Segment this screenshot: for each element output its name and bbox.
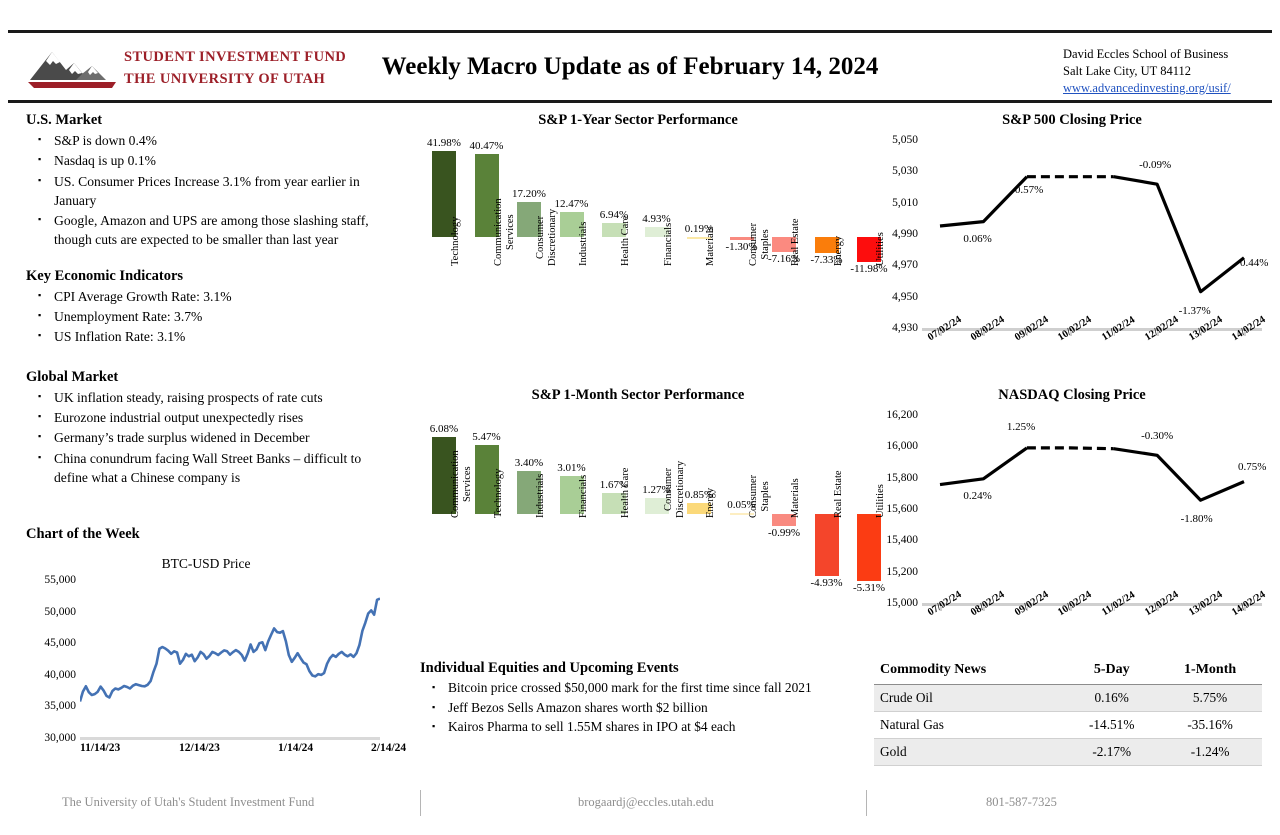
bar-category-label: Energy [705, 488, 717, 518]
equities-heading: Individual Equities and Upcoming Events [420, 660, 850, 677]
cell-1month: -35.16% [1158, 712, 1262, 739]
bar-category-label: Industrials [578, 222, 590, 266]
x-tick-mark [983, 606, 985, 611]
key-indicators-heading: Key Economic Indicators [26, 268, 396, 285]
list-item: US Inflation Rate: 3.1% [26, 327, 396, 346]
footer-right: 801-587-7325 [986, 795, 1057, 810]
table-row: Natural Gas -14.51% -35.16% [874, 712, 1262, 739]
data-point-label: 0.44% [1240, 257, 1268, 269]
x-tick-mark [1114, 606, 1116, 611]
list-item: Unemployment Rate: 3.7% [26, 307, 396, 326]
brand-line-2: THE UNIVERSITY OF UTAH [124, 68, 346, 90]
header-top-rule [8, 30, 1272, 33]
x-tick-mark [940, 331, 942, 336]
list-item: Eurozone industrial output unexpectedly … [26, 408, 396, 427]
data-point-label: 0.57% [1015, 184, 1043, 196]
list-item: China conundrum facing Wall Street Banks… [26, 449, 396, 488]
nasdaq-plot [922, 415, 1262, 603]
nasdaq-y-axis: 15,00015,20015,40015,60015,80016,00016,2… [872, 387, 918, 647]
cell-name: Crude Oil [874, 685, 1065, 712]
sp500-chart: S&P 500 Closing Price 4,9304,9504,9704,9… [872, 112, 1272, 372]
brand-logo-text: STUDENT INVESTMENT FUND THE UNIVERSITY O… [124, 46, 346, 90]
data-point-label: 0.06% [963, 233, 991, 245]
x-tick-mark [1244, 606, 1246, 611]
sector-1y-plot: 41.98%Technology40.47%CommunicationServi… [418, 136, 858, 364]
y-tick-label: 35,000 [44, 700, 76, 712]
x-tick-mark [1027, 331, 1029, 336]
bar-category-label: Industrials [535, 474, 547, 518]
x-tick-mark [1070, 331, 1072, 336]
bar-category-label: ConsumerDiscretionary [535, 209, 558, 266]
commodity-table: Commodity News 5-Day 1-Month Crude Oil 0… [874, 658, 1262, 766]
table-header-row: Commodity News 5-Day 1-Month [874, 658, 1262, 685]
y-tick-label: 55,000 [44, 574, 76, 586]
nasdaq-title: NASDAQ Closing Price [872, 387, 1272, 404]
sector-1y-title: S&P 1-Year Sector Performance [418, 112, 858, 129]
btc-x-axis: 11/14/2312/14/231/14/242/14/24 [66, 742, 396, 758]
data-point-label: -0.09% [1139, 159, 1171, 171]
footer-center: brogaardj@eccles.utah.edu [578, 795, 714, 810]
x-tick-mark [1157, 606, 1159, 611]
bar [815, 514, 839, 576]
bar-value-label: -4.93% [805, 577, 849, 589]
sector-1m-chart: S&P 1-Month Sector Performance 6.08%Comm… [418, 387, 858, 647]
y-tick-label: 5,050 [892, 134, 918, 146]
brand-line-1: STUDENT INVESTMENT FUND [124, 46, 346, 68]
cell-name: Gold [874, 739, 1065, 766]
bar-category-label: CommunicationServices [450, 450, 473, 518]
x-tick-mark [1201, 331, 1203, 336]
footer-left: The University of Utah's Student Investm… [62, 795, 314, 810]
bar-category-label: Real Estate [790, 218, 802, 266]
x-tick-label: 12/14/23 [179, 742, 220, 754]
header-bottom-rule [8, 100, 1272, 103]
data-point-label: -1.80% [1181, 513, 1213, 525]
btc-axis-line [80, 737, 380, 740]
global-market-list: UK inflation steady, raising prospects o… [26, 388, 396, 487]
cell-5day: -14.51% [1065, 712, 1158, 739]
x-tick-mark [1157, 331, 1159, 336]
list-item: Nasdaq is up 0.1% [26, 151, 396, 170]
address-line-2: Salt Lake City, UT 84112 [1063, 63, 1231, 80]
x-tick-label: 1/14/24 [278, 742, 313, 754]
global-market-heading: Global Market [26, 369, 396, 386]
bar-value-label: 3.01% [550, 462, 594, 474]
y-tick-label: 4,950 [892, 291, 918, 303]
key-indicators-block: Key Economic Indicators CPI Average Grow… [26, 268, 396, 347]
cell-name: Natural Gas [874, 712, 1065, 739]
x-tick-label: 2/14/24 [371, 742, 406, 754]
nasdaq-chart: NASDAQ Closing Price 15,00015,20015,4001… [872, 387, 1272, 647]
sp500-y-axis: 4,9304,9504,9704,9905,0105,0305,050 [872, 112, 918, 372]
footer-divider-1 [420, 790, 421, 816]
nasdaq-line-svg [922, 415, 1262, 603]
btc-chart-title: BTC-USD Price [26, 556, 386, 572]
sp500-title: S&P 500 Closing Price [872, 112, 1272, 129]
bar-value-label: 12.47% [550, 198, 594, 210]
x-tick-label: 11/14/23 [80, 742, 120, 754]
cell-1month: 5.75% [1158, 685, 1262, 712]
bar-value-label: 6.08% [422, 423, 466, 435]
y-tick-label: 15,000 [886, 597, 918, 609]
bar-category-label: ConsumerStaples [748, 475, 771, 518]
table-row: Gold -2.17% -1.24% [874, 739, 1262, 766]
bar-value-label: -0.99% [762, 527, 806, 539]
y-tick-label: 5,030 [892, 165, 918, 177]
btc-line-svg [80, 580, 380, 735]
us-market-list: S&P is down 0.4% Nasdaq is up 0.1% US. C… [26, 131, 396, 250]
y-tick-label: 15,200 [886, 566, 918, 578]
newsletter-page: STUDENT INVESTMENT FUND THE UNIVERSITY O… [0, 0, 1280, 835]
bar-value-label: 40.47% [465, 140, 509, 152]
list-item: Jeff Bezos Sells Amazon shares worth $2 … [420, 699, 850, 718]
y-tick-label: 50,000 [44, 606, 76, 618]
page-footer: The University of Utah's Student Investm… [0, 786, 1280, 826]
address-line-1: David Eccles School of Business [1063, 46, 1231, 63]
list-item: Bitcoin price crossed $50,000 mark for t… [420, 679, 850, 698]
chart-of-the-week-heading: Chart of the Week [26, 526, 140, 543]
equities-block: Individual Equities and Upcoming Events … [420, 660, 850, 738]
bar-value-label: 17.20% [507, 188, 551, 200]
key-indicators-list: CPI Average Growth Rate: 3.1% Unemployme… [26, 287, 396, 347]
data-point-label: -0.30% [1141, 430, 1173, 442]
y-tick-label: 4,930 [892, 322, 918, 334]
cell-5day: -2.17% [1065, 739, 1158, 766]
sector-1m-title: S&P 1-Month Sector Performance [418, 387, 858, 404]
x-tick-mark [1027, 606, 1029, 611]
col-1month: 1-Month [1158, 658, 1262, 685]
btc-usd-chart: BTC-USD Price 30,00035,00040,00045,00050… [26, 556, 386, 766]
page-title: Weekly Macro Update as of February 14, 2… [330, 53, 930, 81]
bar-category-label: Technology [450, 217, 462, 266]
equities-list: Bitcoin price crossed $50,000 mark for t… [420, 679, 850, 737]
left-column: U.S. Market S&P is down 0.4% Nasdaq is u… [26, 112, 396, 501]
y-tick-label: 15,800 [886, 472, 918, 484]
cell-5day: 0.16% [1065, 685, 1158, 712]
bar-category-label: Energy [833, 236, 845, 266]
table-row: Crude Oil 0.16% 5.75% [874, 685, 1262, 712]
y-tick-label: 5,010 [892, 197, 918, 209]
cell-1month: -1.24% [1158, 739, 1262, 766]
y-tick-label: 16,000 [886, 440, 918, 452]
bar-category-label: Materials [790, 478, 802, 518]
global-market-block: Global Market UK inflation steady, raisi… [26, 369, 396, 487]
x-tick-mark [1201, 606, 1203, 611]
bar-category-label: Technology [493, 469, 505, 518]
data-point-label: 0.75% [1238, 461, 1266, 473]
bar-value-label: 3.40% [507, 457, 551, 469]
list-item: CPI Average Growth Rate: 3.1% [26, 287, 396, 306]
us-market-heading: U.S. Market [26, 112, 396, 129]
bar-category-label: Health Care [620, 468, 632, 518]
y-tick-label: 4,970 [892, 259, 918, 271]
bar-value-label: 41.98% [422, 137, 466, 149]
footer-divider-2 [866, 790, 867, 816]
y-tick-label: 15,400 [886, 534, 918, 546]
x-tick-mark [1114, 331, 1116, 336]
bar-category-label: Financials [578, 475, 590, 518]
sector-1y-chart: S&P 1-Year Sector Performance 41.98%Tech… [418, 112, 858, 374]
sector-1m-plot: 6.08%CommunicationServices5.47%Technolog… [418, 411, 858, 637]
data-point-label: -1.37% [1179, 305, 1211, 317]
bar-category-label: Real Estate [833, 470, 845, 518]
btc-y-axis: 30,00035,00040,00045,00050,00055,000 [26, 576, 76, 738]
us-market-block: U.S. Market S&P is down 0.4% Nasdaq is u… [26, 112, 396, 250]
y-tick-label: 15,600 [886, 503, 918, 515]
x-tick-mark [1070, 606, 1072, 611]
list-item: S&P is down 0.4% [26, 131, 396, 150]
x-tick-mark [1244, 331, 1246, 336]
brand-logo: STUDENT INVESTMENT FUND THE UNIVERSITY O… [26, 46, 326, 94]
x-tick-mark [983, 331, 985, 336]
school-address: David Eccles School of Business Salt Lak… [1063, 46, 1231, 97]
col-commodity: Commodity News [874, 658, 1065, 685]
list-item: Google, Amazon and UPS are among those s… [26, 211, 396, 250]
y-tick-label: 4,990 [892, 228, 918, 240]
btc-plot-area [80, 580, 380, 735]
list-item: US. Consumer Prices Increase 3.1% from y… [26, 172, 396, 211]
list-item: Germany’s trade surplus widened in Decem… [26, 428, 396, 447]
bar-value-label: 5.47% [465, 431, 509, 443]
col-5day: 5-Day [1065, 658, 1158, 685]
bar-category-label: Materials [705, 226, 717, 266]
bar-category-label: Health Care [620, 216, 632, 266]
website-link[interactable]: www.advancedinvesting.org/usif/ [1063, 81, 1231, 95]
bar-category-label: CommunicationServices [493, 198, 516, 266]
x-tick-mark [940, 606, 942, 611]
y-tick-label: 40,000 [44, 669, 76, 681]
mountain-logo-icon [26, 46, 118, 90]
list-item: UK inflation steady, raising prospects o… [26, 388, 396, 407]
data-point-label: 0.24% [963, 490, 991, 502]
list-item: Kairos Pharma to sell 1.55M shares in IP… [420, 718, 850, 737]
bar-category-label: Financials [663, 223, 675, 266]
data-point-label: 1.25% [1007, 421, 1035, 433]
y-tick-label: 45,000 [44, 637, 76, 649]
y-tick-label: 16,200 [886, 409, 918, 421]
